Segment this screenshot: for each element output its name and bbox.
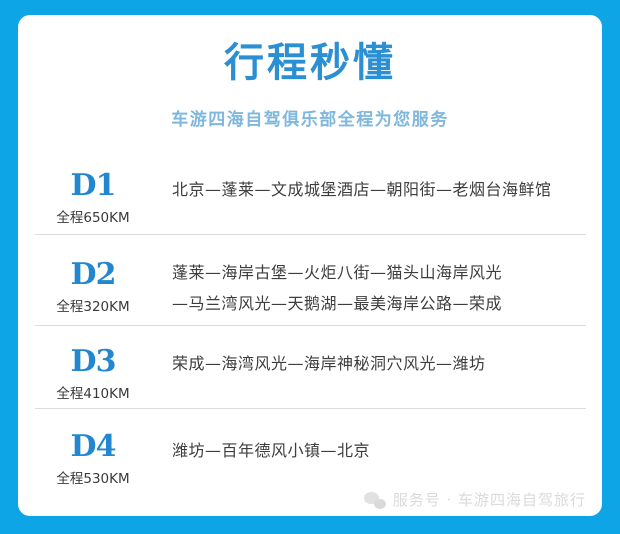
day-code-d2: D2 (34, 259, 152, 291)
watermark-text: 服务号 · 车游四海自驾旅行 (393, 489, 586, 510)
day-distance-d1: 全程650KM (34, 206, 152, 226)
day-label-group-d3: D3 全程410KM (34, 336, 152, 402)
itinerary-row-d4: D4 全程530KM 潍坊—百年德风小镇—北京 (18, 409, 602, 495)
day-code-d4: D4 (34, 431, 152, 463)
day-label-group-d2: D2 全程320KM (34, 245, 152, 315)
day-code-d1: D1 (34, 170, 152, 202)
page-title: 行程秒懂 (18, 41, 602, 85)
itinerary-row-d3: D3 全程410KM 荣成—海湾风光—海岸神秘洞穴风光—潍坊 (18, 326, 602, 408)
day-distance-d2: 全程320KM (34, 295, 152, 315)
itinerary-list: D1 全程650KM 北京—蓬莱—文成城堡酒店—朝阳街—老烟台海鲜馆 D2 全程… (18, 160, 602, 495)
itinerary-row-d1: D1 全程650KM 北京—蓬莱—文成城堡酒店—朝阳街—老烟台海鲜馆 (18, 160, 602, 234)
route-group-d4: 潍坊—百年德风小镇—北京 (152, 423, 587, 466)
page-subtitle: 车游四海自驾俱乐部全程为您服务 (18, 105, 602, 130)
day-code-d3: D3 (34, 346, 152, 378)
watermark: 服务号 · 车游四海自驾旅行 (364, 489, 586, 510)
route-line: 北京—蓬莱—文成城堡酒店—朝阳街—老烟台海鲜馆 (172, 174, 587, 205)
wechat-icon (364, 491, 386, 509)
route-line: 蓬莱—海岸古堡—火炬八街—猫头山海岸风光 (172, 257, 587, 288)
route-group-d1: 北京—蓬莱—文成城堡酒店—朝阳街—老烟台海鲜馆 (152, 162, 587, 205)
route-line: 荣成—海湾风光—海岸神秘洞穴风光—潍坊 (172, 348, 587, 379)
day-label-group-d1: D1 全程650KM (34, 162, 152, 226)
route-line: —马兰湾风光—天鹅湖—最美海岸公路—荣成 (172, 288, 587, 319)
route-line: 潍坊—百年德风小镇—北京 (172, 435, 587, 466)
itinerary-row-d2: D2 全程320KM 蓬莱—海岸古堡—火炬八街—猫头山海岸风光 —马兰湾风光—天… (18, 235, 602, 325)
route-group-d3: 荣成—海湾风光—海岸神秘洞穴风光—潍坊 (152, 336, 587, 379)
poster-background: 行程秒懂 车游四海自驾俱乐部全程为您服务 D1 全程650KM 北京—蓬莱—文成… (0, 0, 620, 534)
day-label-group-d4: D4 全程530KM (34, 423, 152, 487)
day-distance-d4: 全程530KM (34, 467, 152, 487)
poster-header: 行程秒懂 车游四海自驾俱乐部全程为您服务 (18, 15, 602, 130)
itinerary-card: 行程秒懂 车游四海自驾俱乐部全程为您服务 D1 全程650KM 北京—蓬莱—文成… (18, 15, 602, 516)
day-distance-d3: 全程410KM (34, 382, 152, 402)
route-group-d2: 蓬莱—海岸古堡—火炬八街—猫头山海岸风光 —马兰湾风光—天鹅湖—最美海岸公路—荣… (152, 245, 587, 319)
